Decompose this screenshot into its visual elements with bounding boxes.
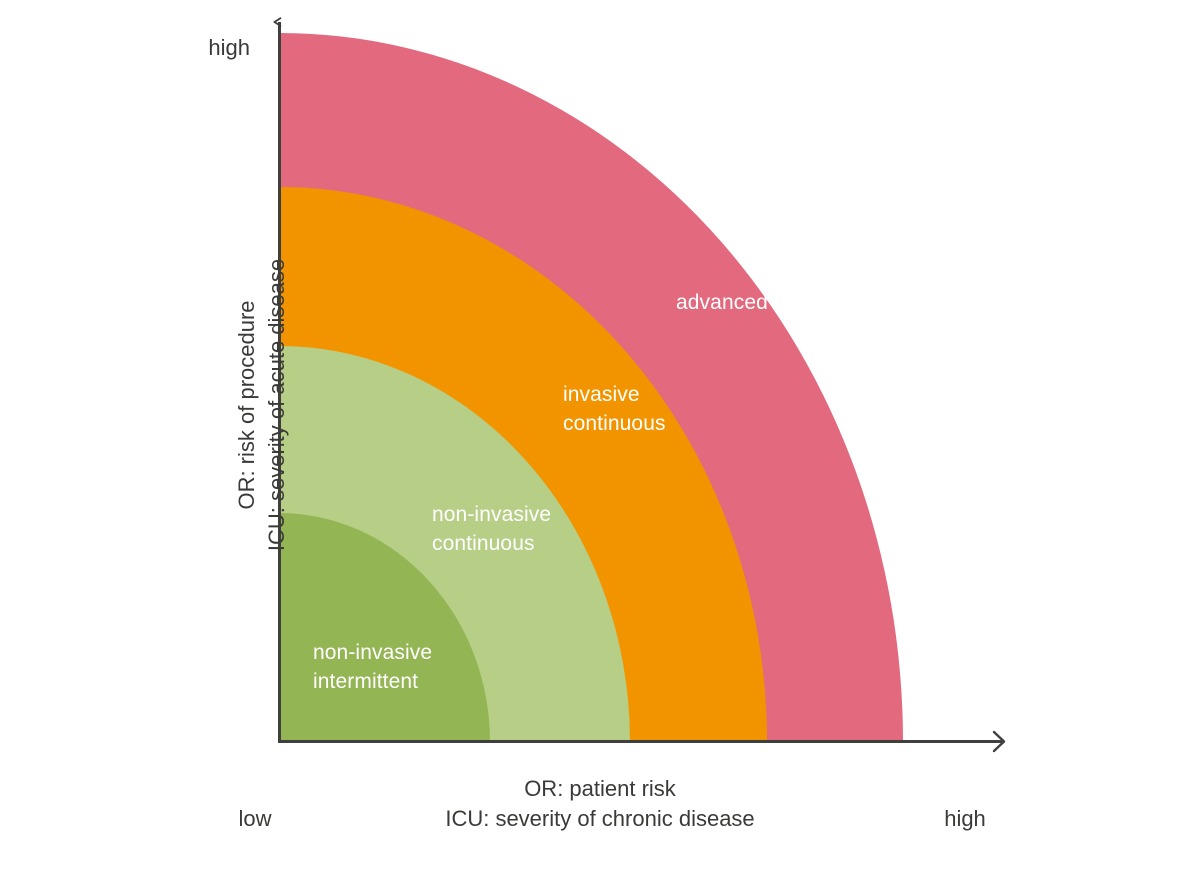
zone-label-non-invasive-intermittent: non-invasive intermittent xyxy=(313,638,432,696)
x-axis-high-label: high xyxy=(885,804,1045,834)
zone-label-invasive-continuous: invasive continuous xyxy=(563,380,666,438)
y-axis-high-label: high xyxy=(140,33,250,63)
zone-label-advanced: advanced xyxy=(676,288,768,317)
diagram-canvas: advanced invasive continuous non-invasiv… xyxy=(0,0,1200,870)
x-axis-title: OR: patient risk ICU: severity of chroni… xyxy=(360,774,840,834)
x-axis-low-label: low xyxy=(175,804,335,834)
y-axis-title: OR: risk of procedure ICU: severity of a… xyxy=(232,190,292,620)
zone-label-non-invasive-continuous: non-invasive continuous xyxy=(432,500,551,558)
